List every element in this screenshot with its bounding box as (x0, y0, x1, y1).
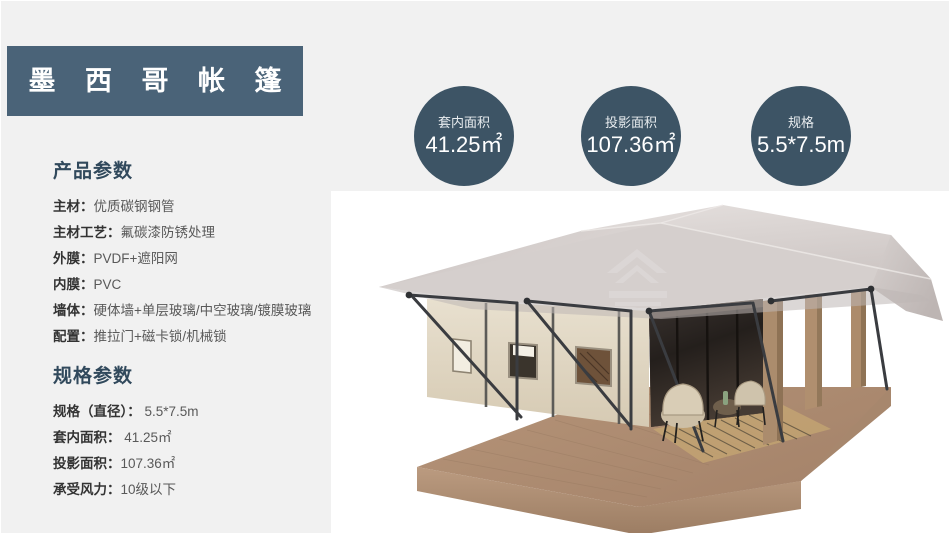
section-heading-product: 产品参数 (53, 161, 383, 184)
title-banner: 墨 西 哥 帐 篷 (7, 46, 303, 116)
spec-label: 外膜： (53, 251, 94, 266)
stat-value: 41.25㎡ (425, 133, 502, 157)
spec-label: 投影面积： (53, 456, 121, 471)
spec-value: 推拉门+磁卡锁/机械锁 (94, 329, 227, 344)
spec-value: 107.36㎡ (121, 456, 176, 471)
stat-label: 规格 (788, 115, 814, 131)
stat-circle-dimensions: 规格 5.5*7.5m (751, 86, 851, 186)
spec-label: 配置： (53, 329, 94, 344)
spec-label: 规格（直径）： (53, 404, 141, 419)
spec-value: 41.25㎡ (121, 430, 172, 445)
stat-value: 5.5*7.5m (757, 133, 845, 157)
stat-label: 投影面积 (605, 115, 657, 131)
stat-value: 107.36㎡ (586, 133, 675, 157)
spec-value: PVC (94, 277, 122, 292)
spec-value: 10级以下 (121, 482, 177, 497)
spec-label: 承受风力： (53, 482, 121, 497)
spec-label: 内膜： (53, 277, 94, 292)
spec-value: 优质碳钢钢管 (94, 199, 175, 214)
spec-label: 主材： (53, 199, 94, 214)
slide-canvas: 墨 西 哥 帐 篷 套内面积 41.25㎡ 投影面积 107.36㎡ 规格 5.… (0, 0, 950, 534)
spec-label: 套内面积： (53, 430, 121, 445)
stat-circle-projected-area: 投影面积 107.36㎡ (581, 86, 681, 186)
stat-label: 套内面积 (438, 115, 490, 131)
stat-circle-interior-area: 套内面积 41.25㎡ (414, 86, 514, 186)
spec-value: 5.5*7.5m (141, 404, 199, 419)
spec-value: 氟碳漆防锈处理 (121, 225, 216, 240)
spec-label: 墙体： (53, 303, 94, 318)
tent-rendering-image (331, 191, 950, 534)
spec-label: 主材工艺： (53, 225, 121, 240)
spec-value: PVDF+遮阳网 (94, 251, 178, 266)
page-title: 墨 西 哥 帐 篷 (17, 68, 292, 95)
spec-value: 硬体墙+单层玻璃/中空玻璃/镀膜玻璃 (94, 303, 312, 318)
